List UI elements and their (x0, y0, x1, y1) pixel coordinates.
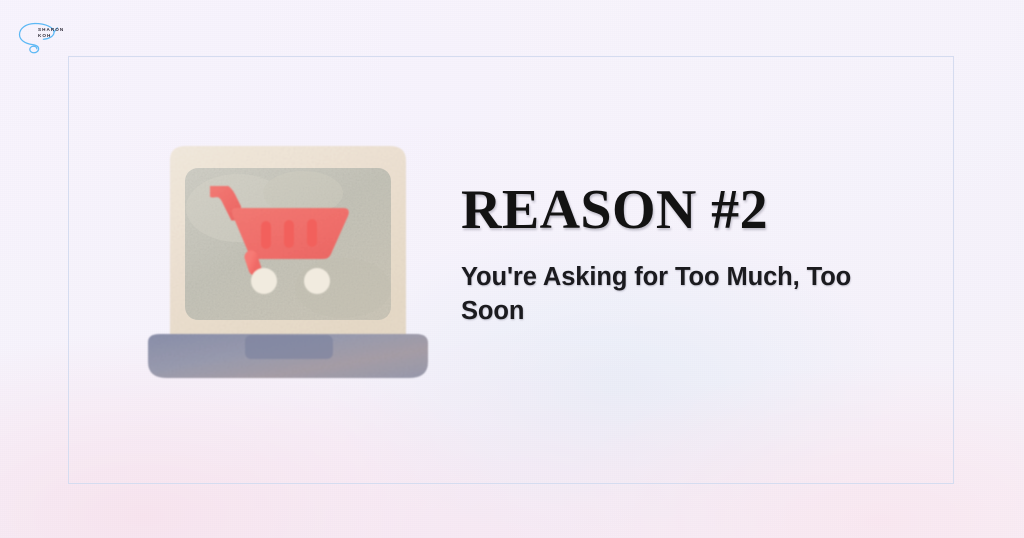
laptop-base (148, 334, 428, 378)
cart-slot (307, 219, 317, 247)
page-title: REASON #2 (461, 182, 911, 238)
laptop-trackpad (245, 335, 333, 359)
cart-slot (284, 220, 294, 248)
logo-wordmark-line-2: KOH (38, 33, 64, 39)
laptop-illustration-svg (143, 138, 433, 390)
cart-wheel (304, 268, 330, 294)
page-subtitle: You're Asking for Too Much, Too Soon (461, 260, 891, 328)
cart-slot (261, 221, 271, 249)
sharon-koh-logo[interactable]: SHARON KOH (14, 16, 72, 60)
laptop-with-shopping-cart-illustration (143, 138, 433, 390)
cart-wheel (251, 268, 277, 294)
slide-canvas: SHARON KOH (0, 0, 1024, 538)
logo-wordmark: SHARON KOH (38, 27, 64, 38)
slide-text-block: REASON #2 You're Asking for Too Much, To… (461, 182, 911, 328)
logo-wordmark-line-1: SHARON (38, 27, 64, 33)
